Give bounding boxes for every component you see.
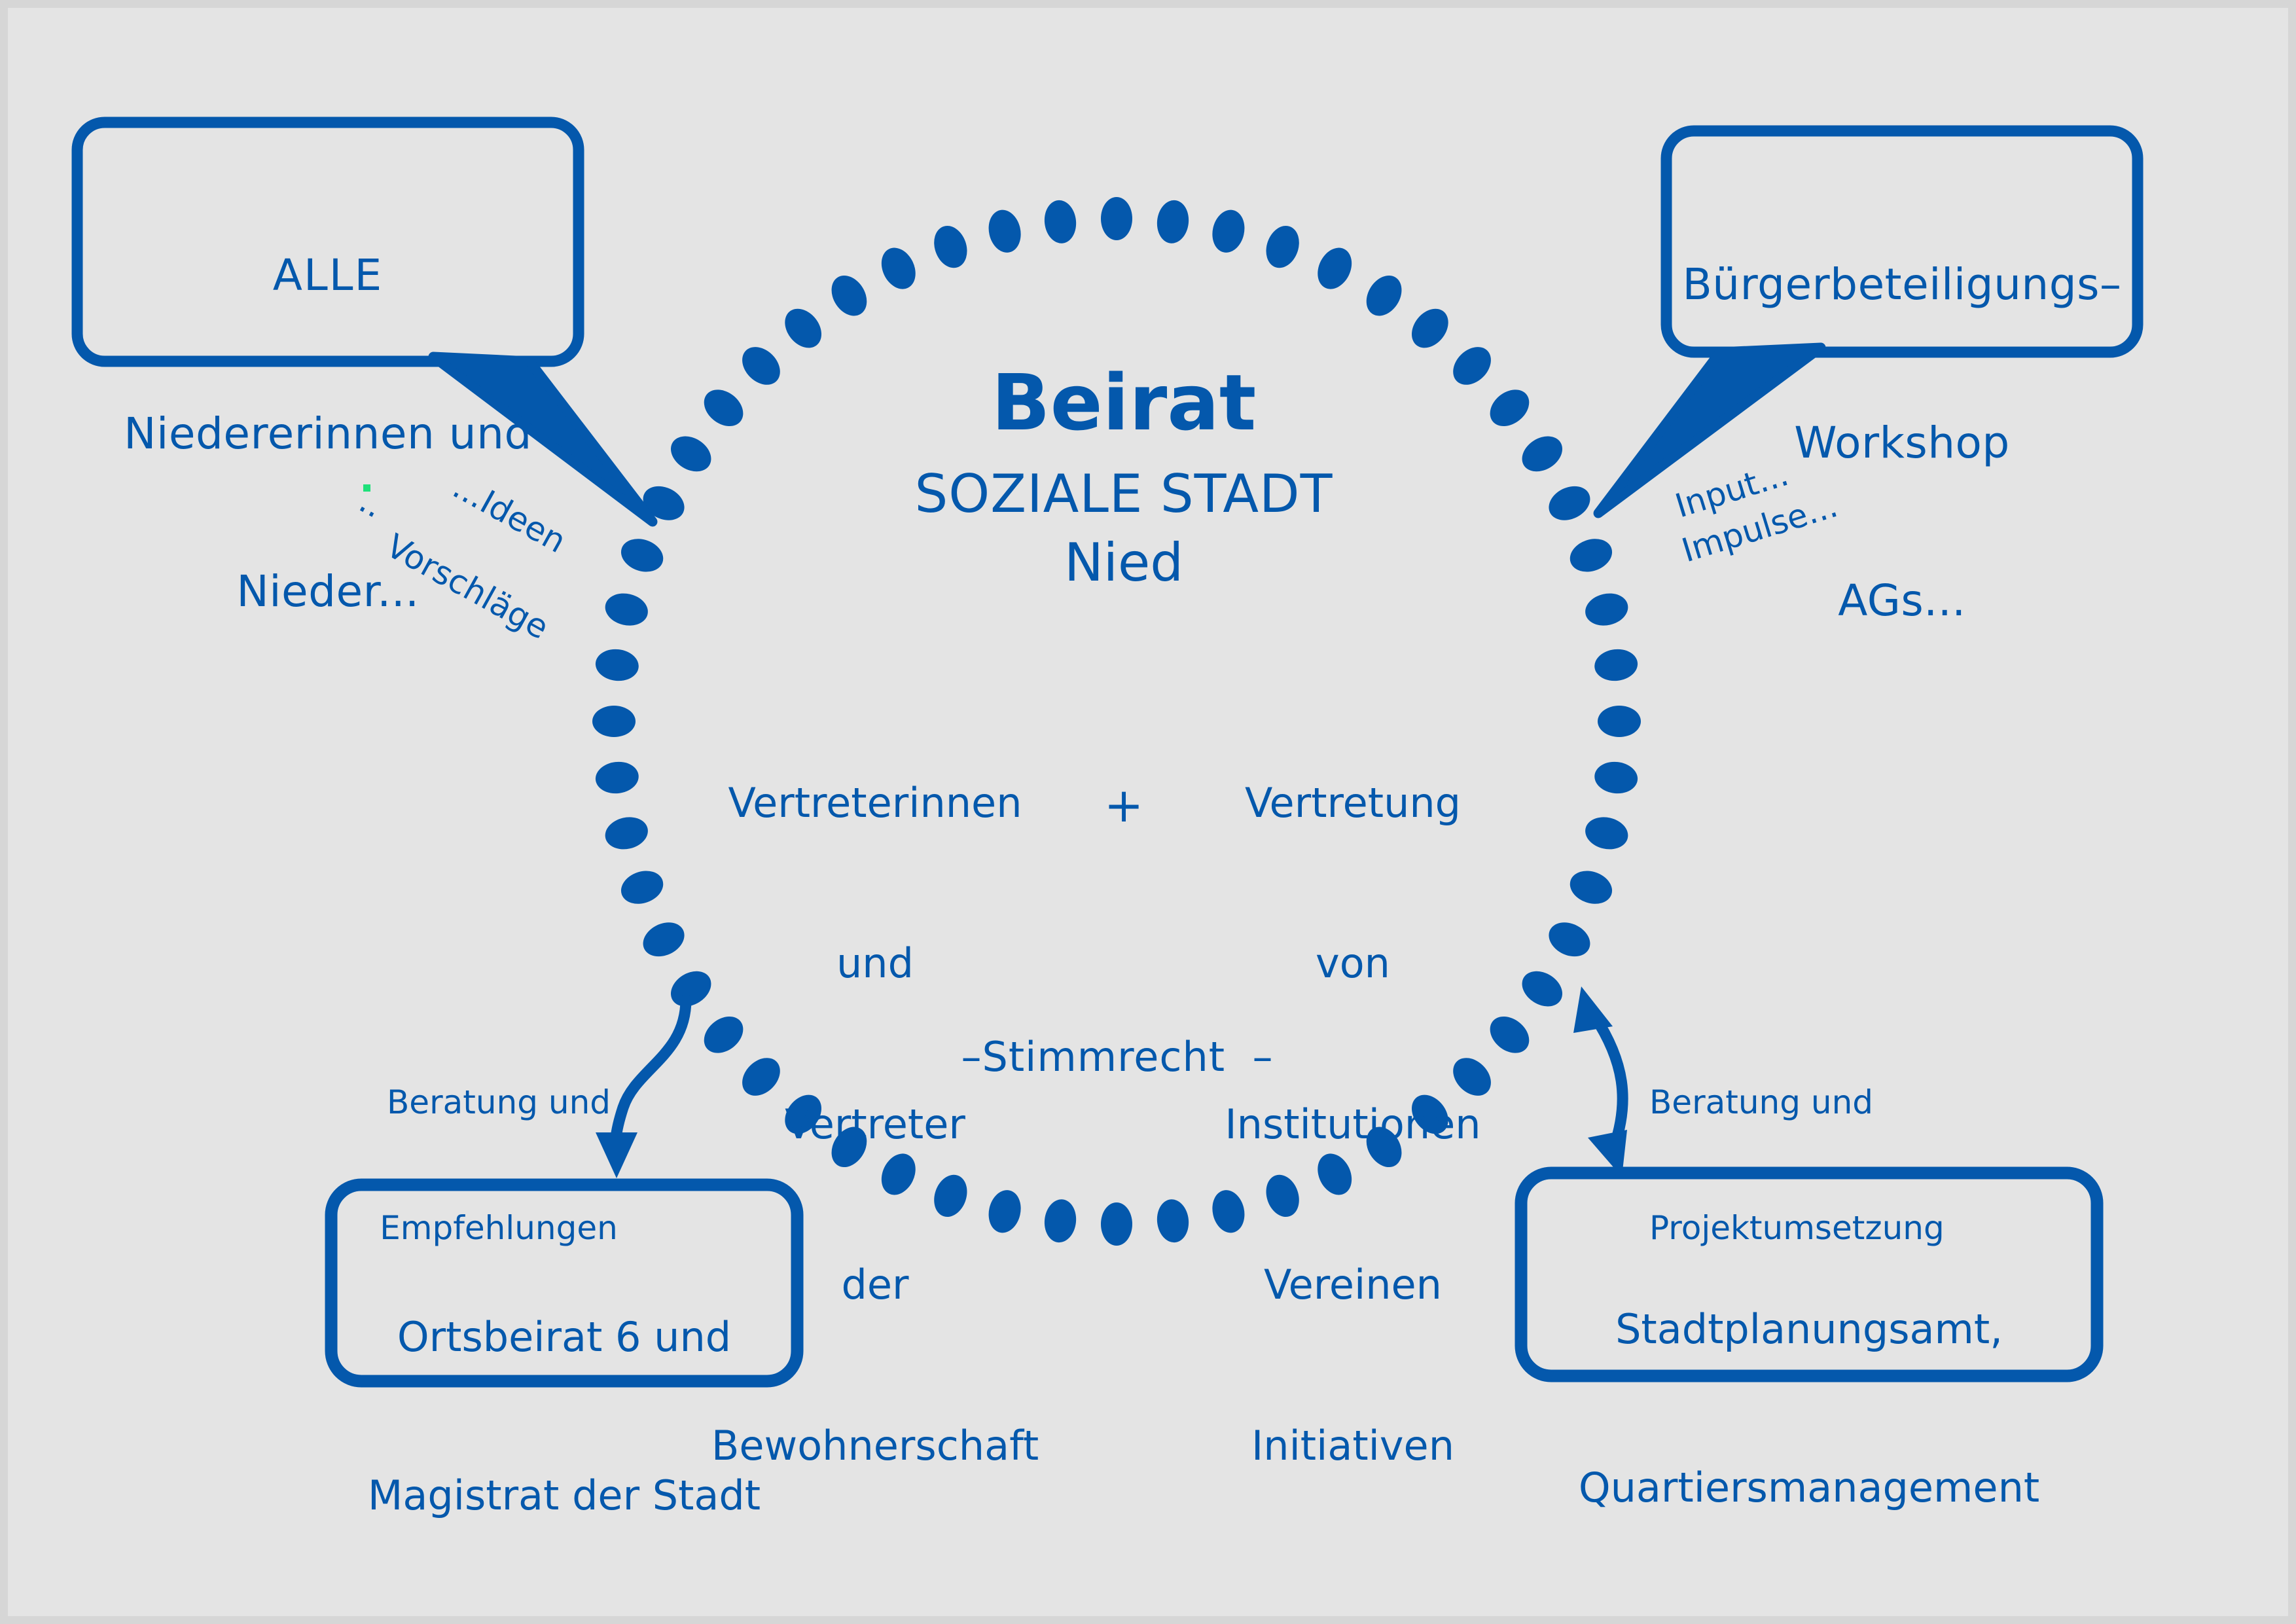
- ring-dot: [1359, 269, 1409, 322]
- ring-dot: [825, 269, 874, 322]
- ring-dot: [1311, 242, 1358, 295]
- ring-dot: [1593, 647, 1640, 683]
- ring-dot: [1582, 589, 1631, 629]
- ring-dot: [1582, 813, 1631, 853]
- ring-dot: [1155, 198, 1191, 245]
- ring-dot: [602, 813, 651, 853]
- ring-dot: [1598, 706, 1641, 737]
- ring-dot: [602, 589, 651, 629]
- bubble-tl-line-1: ALLE: [77, 249, 579, 302]
- subtitle-line-1: SOZIALE STADT: [764, 466, 1484, 522]
- members-right-line-2: von: [1179, 937, 1526, 990]
- speech-bubble-top-right-label: Bürgerbeteiligungs– Workshop AGs...: [1666, 153, 2138, 733]
- ring-dot: [664, 429, 717, 479]
- plus-operator: +: [1075, 780, 1173, 831]
- members-column-right: Vertretung von Institutionen Vereinen In…: [1179, 669, 1526, 1579]
- members-left-line-1: Vertreterinnen: [685, 776, 1065, 830]
- ring-dot: [929, 221, 973, 272]
- diagram-canvas: ALLE Niedererinnen und Nieder... Bürgerb…: [8, 8, 2288, 1616]
- ring-dot: [1543, 480, 1596, 527]
- ring-dot: [637, 916, 690, 963]
- members-right-line-1: Vertretung: [1179, 776, 1526, 830]
- ring-dot: [778, 302, 829, 355]
- ring-dot: [1593, 759, 1640, 795]
- members-left-line-3: Vertreter: [685, 1098, 1065, 1151]
- label-be-line-1: Beratung und: [361, 1081, 636, 1123]
- ring-dot: [1566, 865, 1617, 909]
- arrow-beratung-projektumsetzung: [1573, 986, 1627, 1177]
- ring-dot: [697, 382, 751, 434]
- members-left-line-2: und: [685, 937, 1065, 990]
- speech-bubble-top-left-label: ALLE Niedererinnen und Nieder...: [77, 144, 579, 724]
- bubble-tl-line-2: Niedererinnen und: [77, 408, 579, 461]
- ring-dot: [1261, 221, 1304, 272]
- ring-dot: [1543, 916, 1596, 963]
- ring-dot: [594, 647, 640, 683]
- ring-dot: [1208, 207, 1248, 256]
- subtitle-line-2: Nied: [764, 535, 1484, 591]
- ring-dot: [1483, 382, 1537, 434]
- ring-dot: [984, 207, 1024, 256]
- ring-dot: [617, 533, 668, 577]
- ring-dot: [1042, 198, 1078, 245]
- bubble-tr-line-3: AGs...: [1666, 575, 2138, 628]
- ring-dot: [1405, 302, 1456, 355]
- label-bp-line-1: Beratung und: [1649, 1081, 2003, 1123]
- bubble-tr-line-2: Workshop: [1666, 417, 2138, 470]
- ring-dot: [592, 706, 636, 737]
- ring-dot: [1566, 533, 1617, 577]
- voting-rights-note: –Stimmrecht –: [908, 1036, 1327, 1079]
- ring-dot: [617, 865, 668, 909]
- members-right-line-4: Vereinen: [1179, 1258, 1526, 1312]
- page-title: Beirat: [797, 361, 1451, 444]
- ring-dot: [735, 340, 788, 393]
- box-bottom-right-label: Stadtplanungsamt, Quartiersmanagement un…: [1521, 1198, 2097, 1616]
- ring-dot: [594, 759, 640, 795]
- box-br-line-2: Quartiersmanagement: [1521, 1462, 2097, 1515]
- ring-dot: [1446, 340, 1499, 393]
- members-right-line-5: Initiativen: [1179, 1419, 1526, 1473]
- box-bl-line-2: Magistrat der Stadt: [331, 1470, 797, 1523]
- members-right-line-3: Institutionen: [1179, 1098, 1526, 1151]
- box-bottom-left-label: Ortsbeirat 6 und Magistrat der Stadt Fra…: [331, 1206, 797, 1616]
- ring-dot: [875, 242, 922, 295]
- ring-dot: [1101, 197, 1132, 240]
- ring-dot: [1101, 1202, 1132, 1246]
- ring-dot: [1516, 429, 1569, 479]
- box-bl-line-1: Ortsbeirat 6 und: [331, 1311, 797, 1364]
- bubble-tr-line-1: Bürgerbeteiligungs–: [1666, 259, 2138, 312]
- box-br-line-1: Stadtplanungsamt,: [1521, 1303, 2097, 1356]
